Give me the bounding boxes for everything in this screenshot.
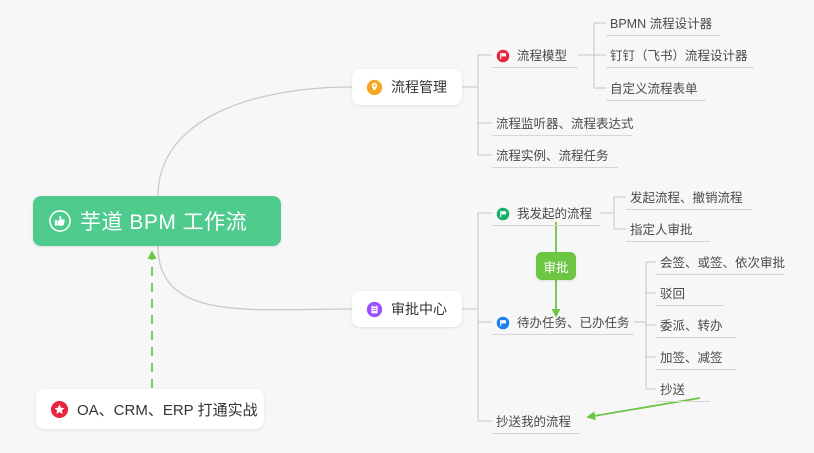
node-approval-center[interactable]: 审批中心 [352, 291, 462, 327]
node-label: 我发起的流程 [517, 207, 592, 222]
clipboard-icon [366, 301, 383, 318]
leaf-label: 会签、或签、依次审批 [660, 256, 785, 271]
root-node[interactable]: 芋道 BPM 工作流 [33, 196, 281, 246]
annotation-approve-badge: 审批 [536, 252, 576, 280]
leaf-reject[interactable]: 驳回 [656, 281, 724, 306]
leaf-label: 发起流程、撤销流程 [630, 191, 743, 206]
node-process-model[interactable]: 流程模型 [492, 43, 578, 68]
leaf-cc-to-me-process[interactable]: 抄送我的流程 [492, 409, 580, 434]
leaf-label: 指定人审批 [630, 223, 693, 238]
leaf-delegate-transfer[interactable]: 委派、转办 [656, 313, 736, 338]
leaf-label: BPMN 流程设计器 [610, 17, 712, 32]
leaf-label: 加签、减签 [660, 351, 723, 366]
node-label: 审批中心 [391, 299, 447, 319]
leaf-label: 驳回 [660, 287, 685, 302]
leaf-label: 抄送 [660, 383, 685, 398]
flag-icon [496, 49, 510, 63]
leaf-add-remove-sign[interactable]: 加签、减签 [656, 345, 736, 370]
star-icon [50, 400, 69, 419]
leaf-process-instance-task[interactable]: 流程实例、流程任务 [492, 143, 618, 168]
flag-icon [496, 207, 510, 221]
wire-root-to-approval-center [158, 246, 352, 310]
node-todo-done-tasks[interactable]: 待办任务、已办任务 [492, 310, 634, 335]
badge-label: 审批 [543, 257, 568, 276]
leaf-countersign-orsign-sequential[interactable]: 会签、或签、依次审批 [656, 250, 784, 275]
thumbs-up-icon [49, 210, 71, 232]
leaf-label: 流程监听器、流程表达式 [496, 117, 634, 132]
flag-icon [496, 316, 510, 330]
leaf-assignee-approval[interactable]: 指定人审批 [626, 217, 710, 242]
leaf-dingtalk-feishu-designer[interactable]: 钉钉（飞书）流程设计器 [606, 43, 754, 68]
location-pin-icon [366, 79, 383, 96]
node-my-initiated-process[interactable]: 我发起的流程 [492, 201, 600, 226]
leaf-label: 自定义流程表单 [610, 82, 698, 97]
leaf-label: 流程实例、流程任务 [496, 149, 609, 164]
leaf-label: 钉钉（飞书）流程设计器 [610, 49, 748, 64]
node-label: 流程模型 [517, 49, 567, 64]
leaf-label: 抄送我的流程 [496, 415, 571, 430]
node-process-management[interactable]: 流程管理 [352, 69, 462, 105]
node-label: OA、CRM、ERP 打通实战 [77, 399, 258, 420]
leaf-custom-process-form[interactable]: 自定义流程表单 [606, 76, 706, 101]
leaf-start-cancel-process[interactable]: 发起流程、撤销流程 [626, 185, 752, 210]
node-label: 流程管理 [391, 77, 447, 97]
wire-root-to-process-management [158, 87, 352, 196]
leaf-label: 委派、转办 [660, 319, 723, 334]
root-label: 芋道 BPM 工作流 [80, 206, 247, 236]
node-label: 待办任务、已办任务 [517, 316, 630, 331]
leaf-bpmn-designer[interactable]: BPMN 流程设计器 [606, 11, 720, 36]
node-oa-crm-erp-integration[interactable]: OA、CRM、ERP 打通实战 [36, 389, 264, 429]
leaf-process-listener-expression[interactable]: 流程监听器、流程表达式 [492, 111, 632, 136]
leaf-carbon-copy[interactable]: 抄送 [656, 377, 710, 402]
mindmap-canvas: 芋道 BPM 工作流 流程管理 流程模型 BPMN 流程设计器 钉钉（飞书）流程… [0, 0, 814, 453]
